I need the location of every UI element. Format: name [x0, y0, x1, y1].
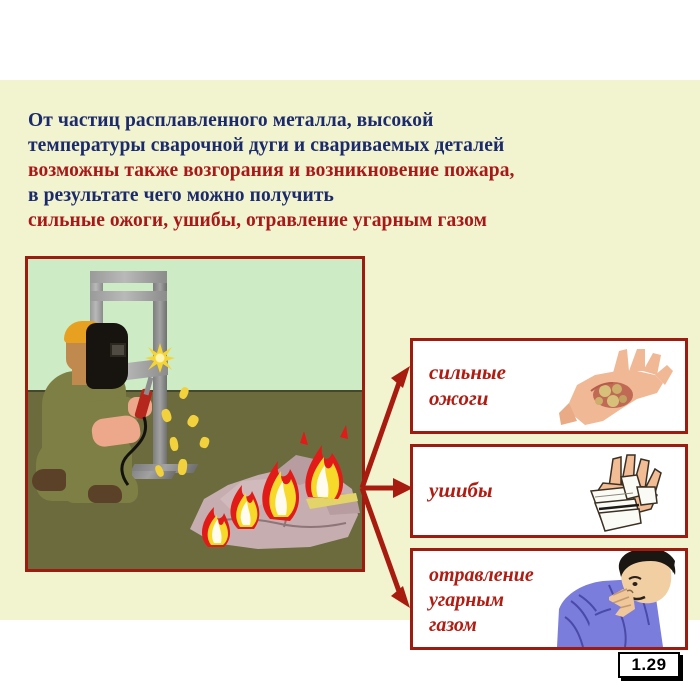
welder-boot-back [32, 469, 66, 491]
mask-viewport [110, 343, 126, 357]
card-label-burns: сильные ожоги [429, 359, 506, 411]
arrow-line-to-card-2 [362, 488, 400, 594]
burning-rubble [180, 419, 362, 559]
card-label-poisoning: отравление угарным газом [429, 563, 534, 638]
headline-line-5: сильные ожоги, ушибы, отравление угарным… [28, 208, 678, 233]
card-label-bruises: ушибы [429, 477, 493, 503]
page-number-badge: 1.29 [618, 652, 680, 678]
headline-line-1: От частиц расплавленного металла, высоко… [28, 108, 678, 133]
slide-canvas: От частиц расплавленного металла, высоко… [0, 80, 700, 620]
consequence-card-burns[interactable]: сильные ожоги [410, 338, 688, 434]
arrow-head-to-card-2 [391, 586, 410, 608]
spark-burst-icon [145, 343, 175, 373]
headline-line-4: в результате чего можно получить [28, 183, 678, 208]
frame-top-rail [90, 271, 167, 283]
consequence-card-poisoning[interactable]: отравление угарным газом [410, 548, 688, 650]
arrow-head-to-card-0 [391, 366, 410, 388]
consequence-card-bruises[interactable]: ушибы [410, 444, 688, 538]
bandaged-hand-icon [551, 447, 681, 538]
headline-text-block: От частиц расплавленного металла, высоко… [28, 108, 678, 233]
headline-line-2: температуры сварочной дуги и свариваемых… [28, 133, 678, 158]
burned-hand-icon [551, 341, 681, 433]
arrow-line-to-card-0 [362, 380, 400, 488]
frame-mid-rail [90, 291, 167, 301]
headline-line-3: возможны также возгорания и возникновени… [28, 158, 678, 183]
torch-cable [98, 411, 178, 491]
illustration-panel [25, 256, 365, 572]
coughing-man-icon [551, 551, 681, 647]
